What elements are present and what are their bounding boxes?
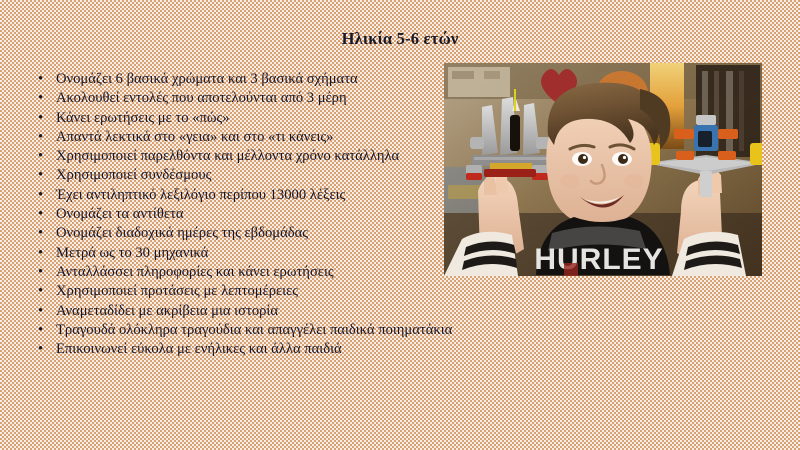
bullet-point-icon: • <box>38 302 48 321</box>
list-item-label: Τραγουδά ολόκληρα τραγούδια και απαγγέλε… <box>56 322 452 338</box>
list-item: • Αναμεταδίδει με ακρίβεια μια ιστορία <box>34 302 774 321</box>
list-item-label: Χρησιμοποιεί παρελθόντα και μέλλοντα χρό… <box>56 148 399 164</box>
list-item-label: Χρησιμοποιεί συνδέσμους <box>56 167 211 183</box>
list-item-label: Χρησιμοποιεί προτάσεις με λεπτομέρειες <box>56 283 298 299</box>
list-item-label: Ονομάζει τα αντίθετα <box>56 206 183 222</box>
page-title: Ηλικία 5-6 ετών <box>0 29 800 49</box>
presentation-slide: Ηλικία 5-6 ετών • Ονομάζει 6 βασικά χρώμ… <box>0 0 800 450</box>
list-item-label: Απαντά λεκτικά στο «γεια» και στο «τι κά… <box>56 129 333 145</box>
boy-with-lego-photo: HURLEY <box>444 63 762 276</box>
bullet-point-icon: • <box>38 321 48 340</box>
bullet-point-icon: • <box>38 224 48 243</box>
list-item-label: Ακολουθεί εντολές που αποτελούνται από 3… <box>56 90 347 106</box>
shirt-graphic-text: HURLEY <box>534 243 663 276</box>
bullet-point-icon: • <box>38 340 48 359</box>
bullet-point-icon: • <box>38 244 48 263</box>
list-item-label: Αναμεταδίδει με ακρίβεια μια ιστορία <box>56 303 278 319</box>
list-item: • Επικοινωνεί εύκολα με ενήλικες και άλλ… <box>34 340 774 359</box>
bullet-point-icon: • <box>38 263 48 282</box>
bullet-point-icon: • <box>38 147 48 166</box>
list-item: • Χρησιμοποιεί προτάσεις με λεπτομέρειες <box>34 282 774 301</box>
bullet-point-icon: • <box>38 186 48 205</box>
slide-photo: HURLEY <box>444 63 762 276</box>
bullet-point-icon: • <box>38 166 48 185</box>
list-item: • Τραγουδά ολόκληρα τραγούδια και απαγγέ… <box>34 321 774 340</box>
list-item-label: Κάνει ερωτήσεις με το «πώς» <box>56 110 230 126</box>
bullet-point-icon: • <box>38 282 48 301</box>
bullet-point-icon: • <box>38 205 48 224</box>
list-item-label: Ανταλλάσσει πληροφορίες και κάνει ερωτήσ… <box>56 264 334 280</box>
list-item-label: Ονομάζει 6 βασικά χρώματα και 3 βασικά σ… <box>56 71 358 87</box>
bullet-point-icon: • <box>38 109 48 128</box>
bullet-point-icon: • <box>38 70 48 89</box>
bullet-point-icon: • <box>38 128 48 147</box>
list-item-label: Μετρά ως το 30 μηχανικά <box>56 245 208 261</box>
list-item-label: Ονομάζει διαδοχικά ημέρες της εβδομάδας <box>56 225 308 241</box>
list-item-label: Επικοινωνεί εύκολα με ενήλικες και άλλα … <box>56 341 342 357</box>
bullet-point-icon: • <box>38 89 48 108</box>
list-item-label: Έχει αντιληπτικό λεξιλόγιο περίπου 13000… <box>56 187 345 203</box>
